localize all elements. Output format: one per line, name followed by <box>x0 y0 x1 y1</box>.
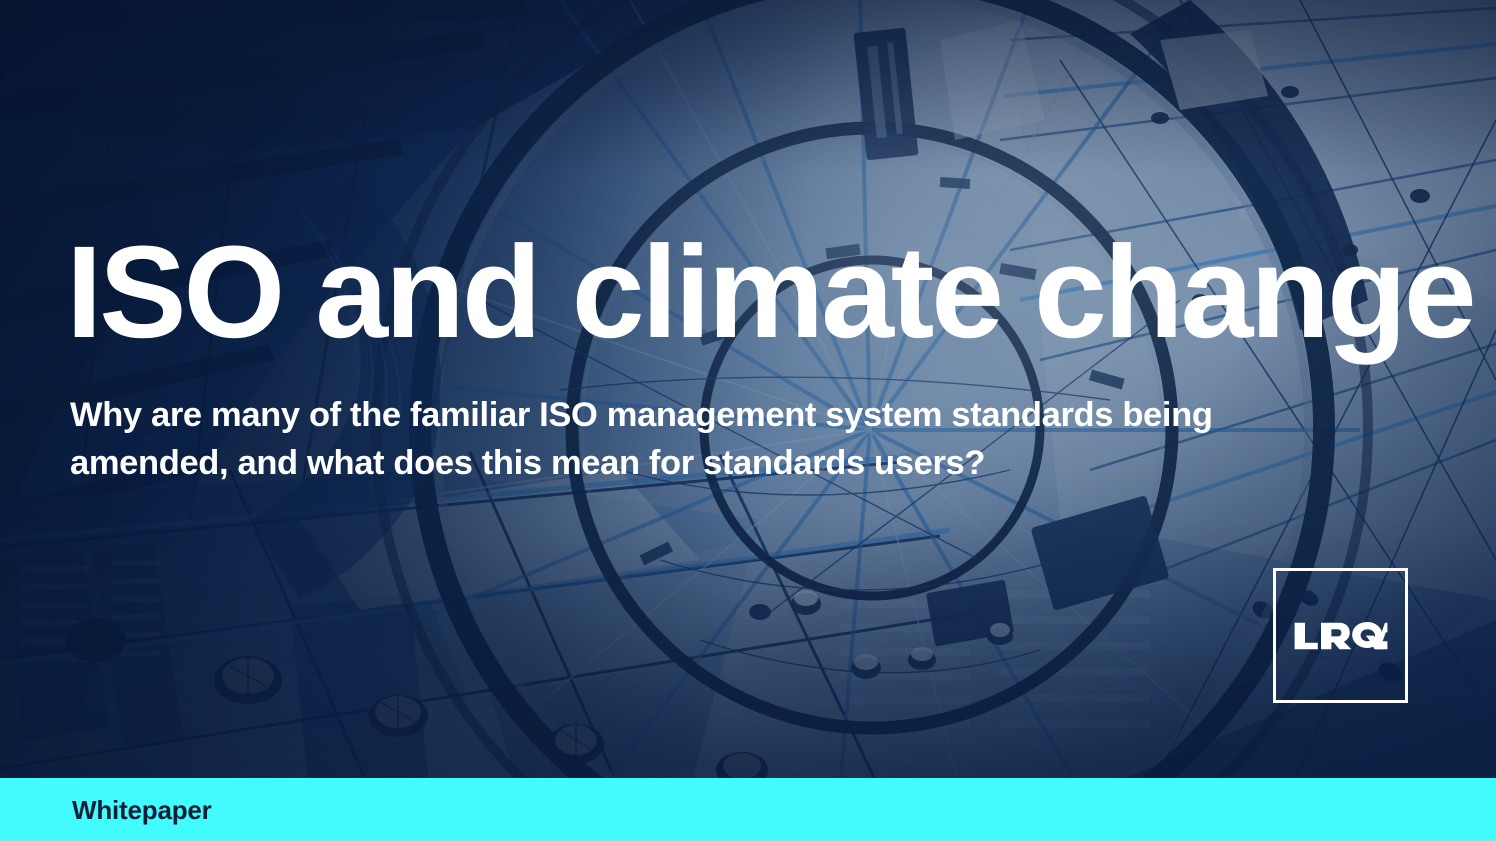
footer-band: Whitepaper <box>0 778 1496 841</box>
document-type-label: Whitepaper <box>72 795 212 825</box>
lrqa-wordmark-icon <box>1293 620 1389 652</box>
whitepaper-cover-page: ISO and climate change Why are many of t… <box>0 0 1496 841</box>
lrqa-logo <box>1273 568 1408 703</box>
headline-block: ISO and climate change Why are many of t… <box>66 226 1406 487</box>
page-subtitle: Why are many of the familiar ISO managem… <box>70 391 1300 487</box>
page-title: ISO and climate change <box>66 226 1406 357</box>
